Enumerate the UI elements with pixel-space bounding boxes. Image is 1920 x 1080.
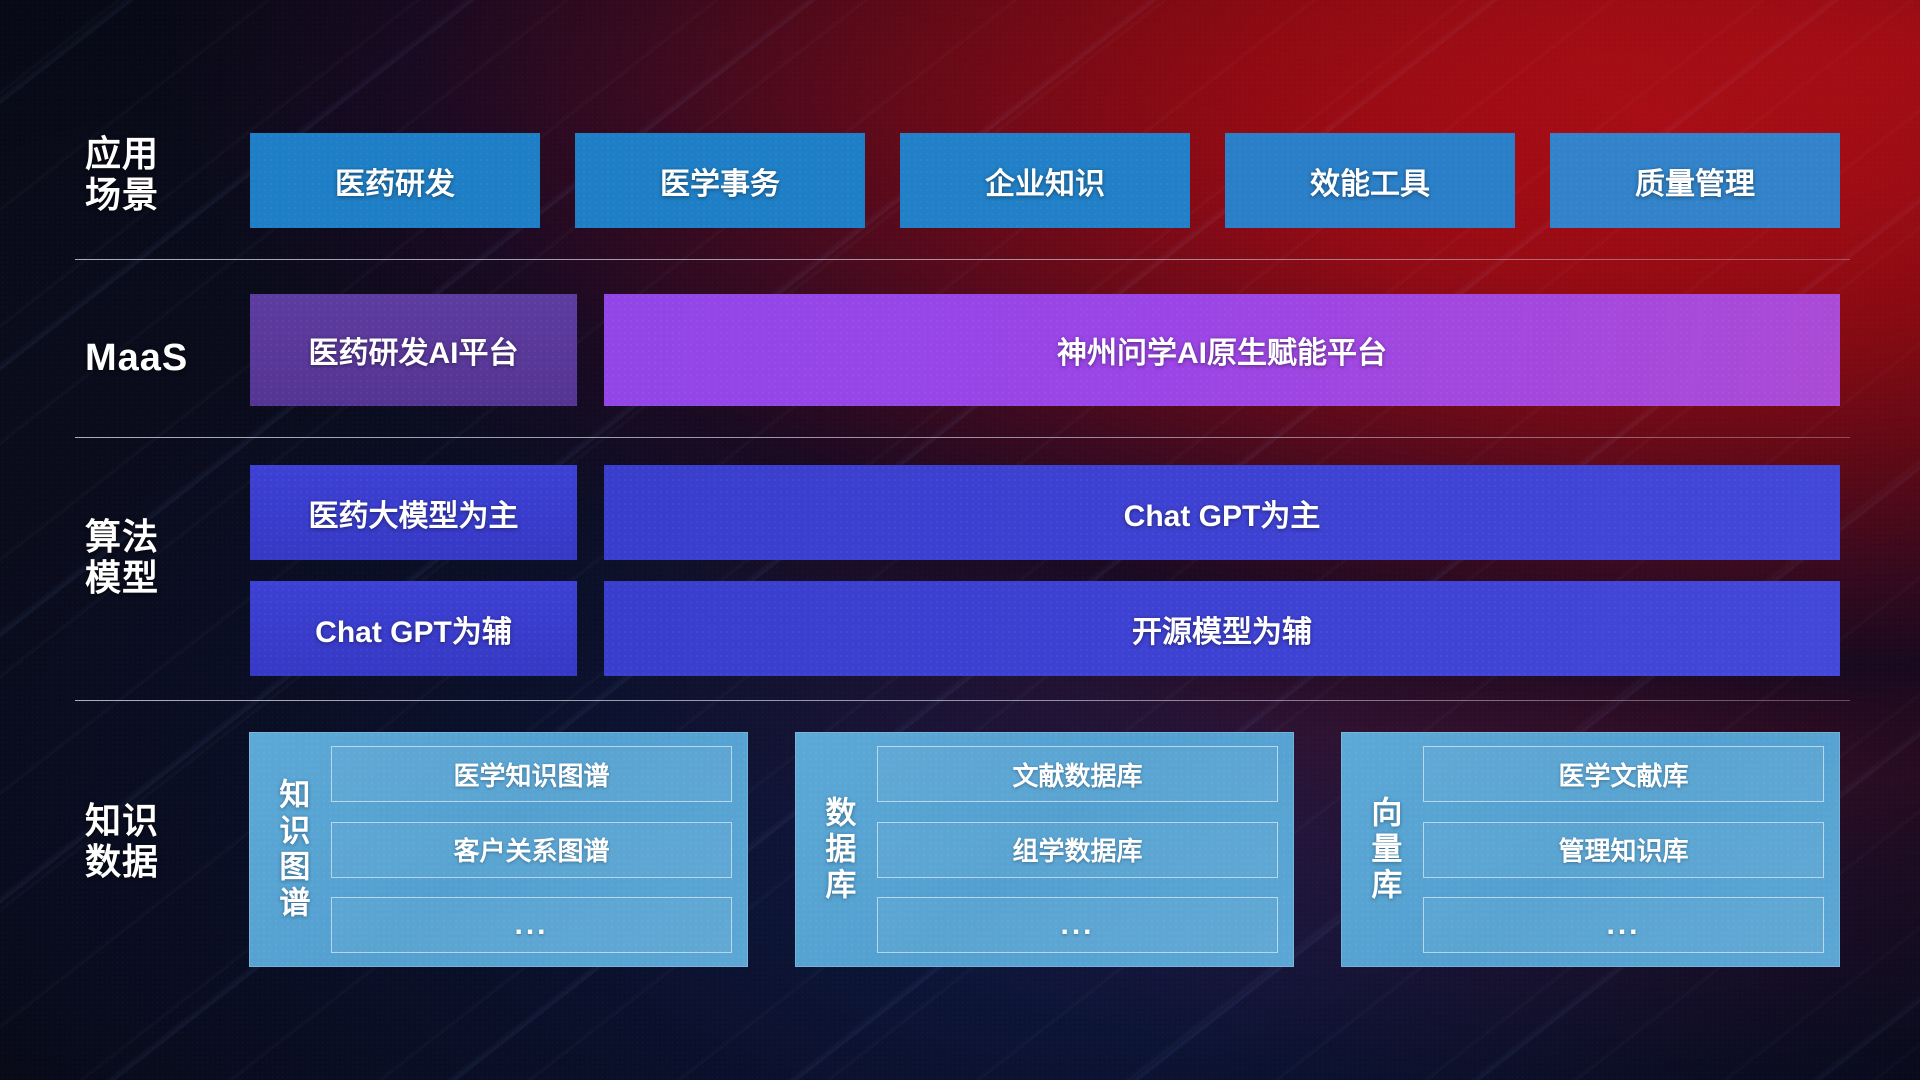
app-card-label: 医学事务 <box>660 159 780 203</box>
algo-card-drug-large-model-primary[interactable]: 医药大模型为主 <box>250 465 577 560</box>
app-card-quality-management[interactable]: 质量管理 <box>1550 133 1840 228</box>
row-label-line-1: 知识 <box>85 800 245 841</box>
algo-card-label: 开源模型为辅 <box>1132 607 1312 651</box>
algo-card-chatgpt-primary[interactable]: Chat GPT为主 <box>604 465 1840 560</box>
app-card-label: 企业知识 <box>985 159 1105 203</box>
knowledge-panel-title: 知识图谱 <box>263 778 319 922</box>
maas-card-shenzhou-wenxue-platform[interactable]: 神州问学AI原生赋能平台 <box>604 294 1840 406</box>
algo-card-label: 医药大模型为主 <box>309 491 519 535</box>
knowledge-item[interactable]: 管理知识库 <box>1423 822 1824 878</box>
app-card-enterprise-knowledge[interactable]: 企业知识 <box>900 133 1190 228</box>
knowledge-panel-title: 数据库 <box>809 796 865 904</box>
app-card-drug-rd[interactable]: 医药研发 <box>250 133 540 228</box>
divider-after-application-row <box>75 259 1850 260</box>
row-label-application-scenarios: 应用 场景 <box>85 133 245 215</box>
knowledge-panel-knowledge-graph[interactable]: 知识图谱 医学知识图谱 客户关系图谱 ... <box>249 732 748 967</box>
row-label-line-1: 应用 <box>85 133 245 174</box>
row-label-line-2: 数据 <box>85 841 245 882</box>
row-label-line-1: MaaS <box>85 337 245 380</box>
knowledge-panel-title: 向量库 <box>1355 796 1411 904</box>
algo-card-label: Chat GPT为辅 <box>315 607 512 651</box>
row-label-line-2: 模型 <box>85 557 245 598</box>
app-card-label: 医药研发 <box>335 159 455 203</box>
knowledge-panel-vector-database[interactable]: 向量库 医学文献库 管理知识库 ... <box>1341 732 1840 967</box>
app-card-label: 质量管理 <box>1635 159 1755 203</box>
knowledge-item-more[interactable]: ... <box>1423 897 1824 953</box>
knowledge-item[interactable]: 文献数据库 <box>877 746 1278 802</box>
divider-after-algorithm-row <box>75 700 1850 701</box>
knowledge-item[interactable]: 组学数据库 <box>877 822 1278 878</box>
app-card-efficiency-tools[interactable]: 效能工具 <box>1225 133 1515 228</box>
app-card-label: 效能工具 <box>1310 159 1430 203</box>
algo-card-label: Chat GPT为主 <box>1124 491 1321 535</box>
row-label-line-2: 场景 <box>85 174 245 215</box>
architecture-diagram: 应用 场景 医药研发 医学事务 企业知识 效能工具 质量管理 MaaS <box>0 0 1920 1080</box>
maas-card-label: 医药研发AI平台 <box>309 328 519 372</box>
knowledge-item[interactable]: 医学知识图谱 <box>331 746 732 802</box>
algo-card-chatgpt-secondary[interactable]: Chat GPT为辅 <box>250 581 577 676</box>
knowledge-item-more[interactable]: ... <box>331 897 732 953</box>
maas-card-drug-rd-ai-platform[interactable]: 医药研发AI平台 <box>250 294 577 406</box>
row-label-maas: MaaS <box>85 337 245 380</box>
knowledge-item[interactable]: 客户关系图谱 <box>331 822 732 878</box>
algo-card-open-source-model-secondary[interactable]: 开源模型为辅 <box>604 581 1840 676</box>
knowledge-item[interactable]: 医学文献库 <box>1423 746 1824 802</box>
maas-card-label: 神州问学AI原生赋能平台 <box>1057 328 1387 372</box>
app-card-medical-affairs[interactable]: 医学事务 <box>575 133 865 228</box>
row-label-algorithm-model: 算法 模型 <box>85 516 245 598</box>
knowledge-panel-database[interactable]: 数据库 文献数据库 组学数据库 ... <box>795 732 1294 967</box>
row-label-knowledge-data: 知识 数据 <box>85 800 245 882</box>
knowledge-item-more[interactable]: ... <box>877 897 1278 953</box>
divider-after-maas-row <box>75 437 1850 438</box>
row-label-line-1: 算法 <box>85 516 245 557</box>
